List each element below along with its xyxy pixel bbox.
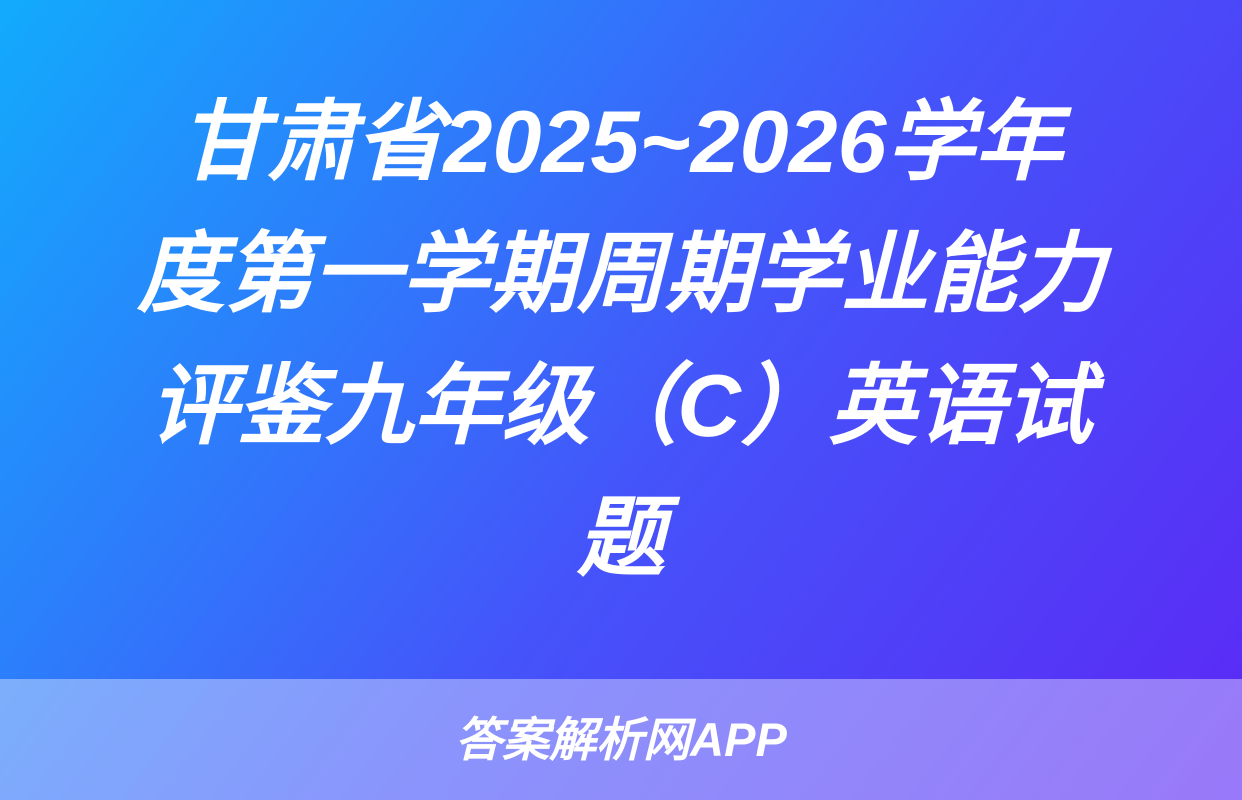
footer-watermark-band: 答案解析网APP [0,679,1242,800]
footer-brand-label: 答案解析网APP [455,712,787,768]
exam-title-block: 甘肃省2025~2026学年 度第一学期周期学业能力 评鉴九年级（C）英语试 题 [0,0,1242,679]
page-title: 甘肃省2025~2026学年 度第一学期周期学业能力 评鉴九年级（C）英语试 题 [72,76,1170,604]
exam-cover-canvas: 甘肃省2025~2026学年 度第一学期周期学业能力 评鉴九年级（C）英语试 题… [0,0,1242,800]
